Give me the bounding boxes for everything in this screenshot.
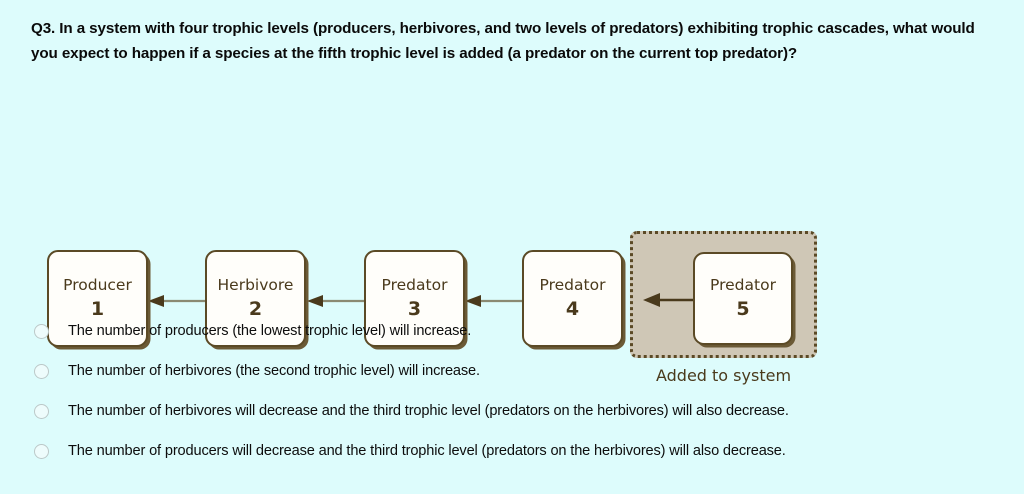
- answer-option-4[interactable]: The number of producers will decrease an…: [0, 432, 1024, 472]
- radio-button-icon[interactable]: [34, 324, 49, 339]
- answer-option-1[interactable]: The number of producers (the lowest trop…: [0, 312, 1024, 352]
- arrow-predator4-to-predator3: [465, 294, 525, 308]
- node-label: Herbivore: [218, 276, 294, 295]
- answer-option-label: The number of producers will decrease an…: [68, 441, 786, 462]
- answer-option-label: The number of herbivores (the second tro…: [68, 361, 480, 382]
- radio-button-icon[interactable]: [34, 404, 49, 419]
- answer-option-label: The number of producers (the lowest trop…: [68, 321, 471, 342]
- trophic-cascade-diagram: Producer 1 Herbivore 2 Predator 3 Predat…: [0, 110, 1024, 290]
- node-label: Predator: [382, 276, 448, 295]
- arrow-predator3-to-herbivore: [307, 294, 367, 308]
- question-text: Q3. In a system with four trophic levels…: [31, 16, 997, 66]
- arrow-herbivore-to-producer: [148, 294, 208, 308]
- radio-button-icon[interactable]: [34, 444, 49, 459]
- answer-options-list: The number of producers (the lowest trop…: [0, 312, 1024, 472]
- arrow-predator5-to-predator4: [643, 293, 699, 307]
- node-label: Predator: [710, 276, 776, 295]
- radio-button-icon[interactable]: [34, 364, 49, 379]
- answer-option-2[interactable]: The number of herbivores (the second tro…: [0, 352, 1024, 392]
- node-label: Predator: [540, 276, 606, 295]
- answer-option-label: The number of herbivores will decrease a…: [68, 401, 789, 422]
- answer-option-3[interactable]: The number of herbivores will decrease a…: [0, 392, 1024, 432]
- node-label: Producer: [63, 276, 132, 295]
